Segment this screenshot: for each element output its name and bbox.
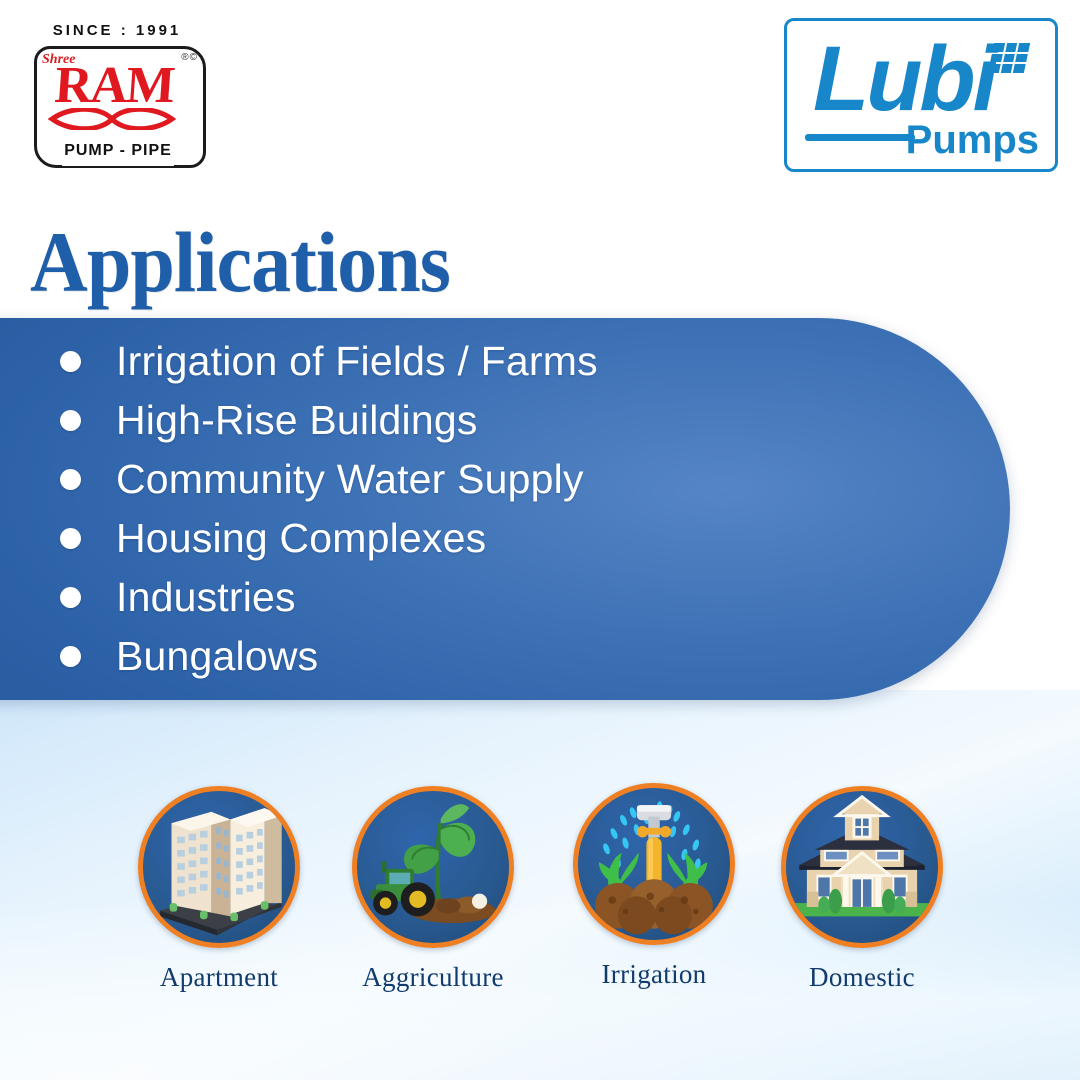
- domestic-circle: [781, 786, 943, 948]
- tractor-plant-icon: [357, 791, 509, 943]
- lubi-sub-text: Pumps: [906, 118, 1039, 163]
- list-item-label: Irrigation of Fields / Farms: [116, 338, 598, 385]
- ram-tagline-text: PUMP - PIPE: [64, 142, 172, 159]
- applications-list: Irrigation of Fields / Farms High-Rise B…: [50, 332, 950, 686]
- poster-canvas: SINCE : 1991 Shree RAM ®© PUMP - PIPE Lu…: [0, 0, 1080, 1080]
- ram-since-text: SINCE : 1991: [22, 22, 212, 39]
- bullet-dot-icon: [60, 351, 81, 372]
- ram-tagline-wrap: PUMP - PIPE: [62, 142, 174, 166]
- lubi-name-text: Lubi: [813, 29, 995, 129]
- ram-registered-mark: ®©: [181, 52, 198, 63]
- list-item: Industries: [50, 568, 950, 627]
- segment-label: Apartment: [119, 962, 319, 993]
- list-item: Irrigation of Fields / Farms: [50, 332, 950, 391]
- segment-irrigation: Irrigation: [554, 783, 754, 990]
- irrigation-circle: [573, 783, 735, 945]
- page-title: Applications: [30, 212, 450, 312]
- segment-label: Aggriculture: [333, 962, 533, 993]
- bullet-dot-icon: [60, 587, 81, 608]
- segment-domestic: Domestic: [762, 786, 962, 993]
- lubi-underline-rule: [805, 134, 915, 141]
- list-item-label: Industries: [116, 574, 296, 621]
- bullet-dot-icon: [60, 528, 81, 549]
- segment-agriculture: Aggriculture: [333, 786, 533, 993]
- segment-icon-row: Apartment: [0, 786, 1080, 1026]
- segment-apartment: Apartment: [119, 786, 319, 993]
- bullet-dot-icon: [60, 469, 81, 490]
- sprinkler-icon: [578, 788, 730, 940]
- segment-label: Domestic: [762, 962, 962, 993]
- shree-ram-logo: SINCE : 1991 Shree RAM ®© PUMP - PIPE: [22, 22, 212, 170]
- apartment-circle: [138, 786, 300, 948]
- house-icon: [786, 791, 938, 943]
- solar-grid-icon: [988, 43, 1030, 73]
- list-item-label: Bungalows: [116, 633, 318, 680]
- apartment-buildings-icon: [143, 791, 295, 943]
- list-item-label: Housing Complexes: [116, 515, 486, 562]
- list-item: Bungalows: [50, 627, 950, 686]
- segment-label: Irrigation: [554, 959, 754, 990]
- ram-name-text: RAM: [42, 60, 186, 112]
- bullet-dot-icon: [60, 646, 81, 667]
- list-item: Housing Complexes: [50, 509, 950, 568]
- ram-flourish-icon: [48, 108, 178, 130]
- list-item-label: Community Water Supply: [116, 456, 584, 503]
- list-item: High-Rise Buildings: [50, 391, 950, 450]
- lubi-pumps-logo: Lubi Pumps: [784, 18, 1058, 172]
- bullet-dot-icon: [60, 410, 81, 431]
- agriculture-circle: [352, 786, 514, 948]
- list-item-label: High-Rise Buildings: [116, 397, 478, 444]
- list-item: Community Water Supply: [50, 450, 950, 509]
